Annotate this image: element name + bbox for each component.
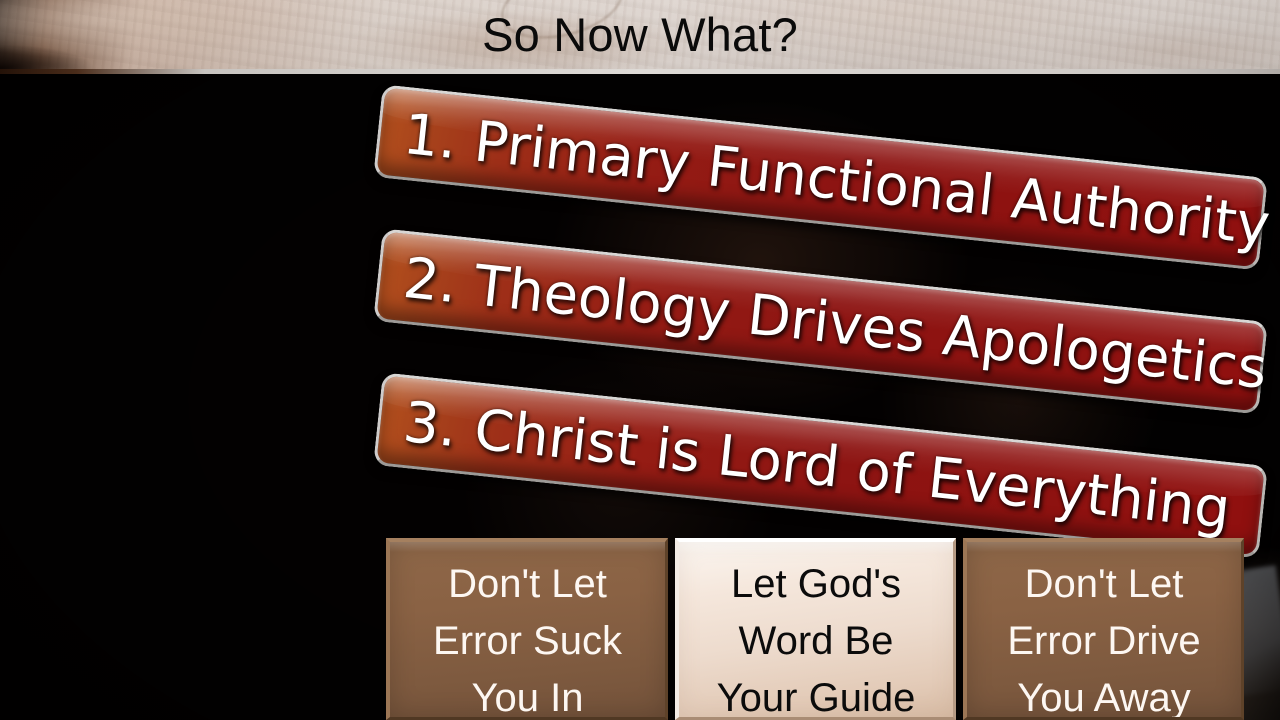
bottom-box-dont-let-error-suck-you-in[interactable]: Don't Let Error Suck You In	[386, 538, 668, 720]
title-band-edge	[0, 69, 1280, 74]
presentation-slide: So Now What? 1. Primary Functional Autho…	[0, 0, 1280, 720]
bottom-box-dont-let-error-drive-you-away[interactable]: Don't Let Error Drive You Away	[963, 538, 1244, 720]
bottom-box-let-gods-word-be-your-guide[interactable]: Let God's Word Be Your Guide	[675, 538, 956, 720]
slide-title: So Now What?	[0, 2, 1280, 68]
